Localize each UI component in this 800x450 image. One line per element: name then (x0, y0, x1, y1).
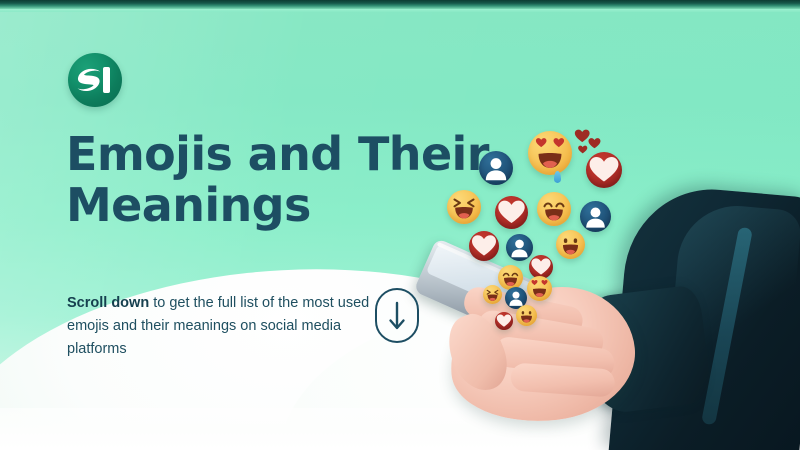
reaction-bubble-heart (586, 152, 622, 188)
s1-logo[interactable] (68, 53, 122, 107)
arrow-down-icon (388, 301, 406, 333)
smile-glyph (537, 192, 571, 226)
logo-one-glyph (103, 67, 110, 93)
top-accent-hairline (0, 9, 800, 12)
heart-glyph (469, 231, 499, 261)
subtitle-emphasis: Scroll down (67, 295, 149, 311)
reaction-bubble-grin (556, 230, 585, 259)
finger-pinky (510, 362, 616, 397)
reaction-bubble-heart-eyes (527, 276, 552, 301)
reaction-bubble-grin (516, 305, 537, 326)
heart-eyes-glyph (528, 131, 572, 175)
reaction-bubble-heart-eyes (528, 131, 572, 175)
hand-holding-phone (410, 255, 800, 450)
page-title-line-1: Emojis and Their (66, 129, 466, 180)
page-title-line-2: Meanings (66, 180, 466, 231)
reaction-bubble-laughing-squint (483, 285, 502, 304)
subtitle-copy: Scroll down to get the full list of the … (67, 292, 377, 362)
reaction-bubble-heart (495, 196, 528, 229)
top-accent-band (0, 0, 800, 9)
scroll-down-indicator[interactable] (375, 288, 419, 343)
page-title: Emojis and Their Meanings (66, 129, 466, 231)
reaction-bubble-heart (495, 312, 513, 330)
reaction-bubble-smile (537, 192, 571, 226)
floating-heart-icon (587, 136, 602, 151)
user-glyph (580, 201, 611, 232)
heart-glyph (586, 152, 622, 188)
grin-glyph (556, 230, 585, 259)
laughing-squint-glyph (483, 285, 502, 304)
grin-glyph (516, 305, 537, 326)
logo-s-glyph (77, 68, 102, 92)
heart-glyph (495, 196, 528, 229)
slide-canvas: Emojis and Their Meanings Scroll down to… (0, 0, 800, 450)
tear-drop-icon (554, 171, 561, 182)
reaction-bubble-user (580, 201, 611, 232)
reaction-bubble-heart (469, 231, 499, 261)
heart-eyes-glyph (527, 276, 552, 301)
heart-glyph (495, 312, 513, 330)
